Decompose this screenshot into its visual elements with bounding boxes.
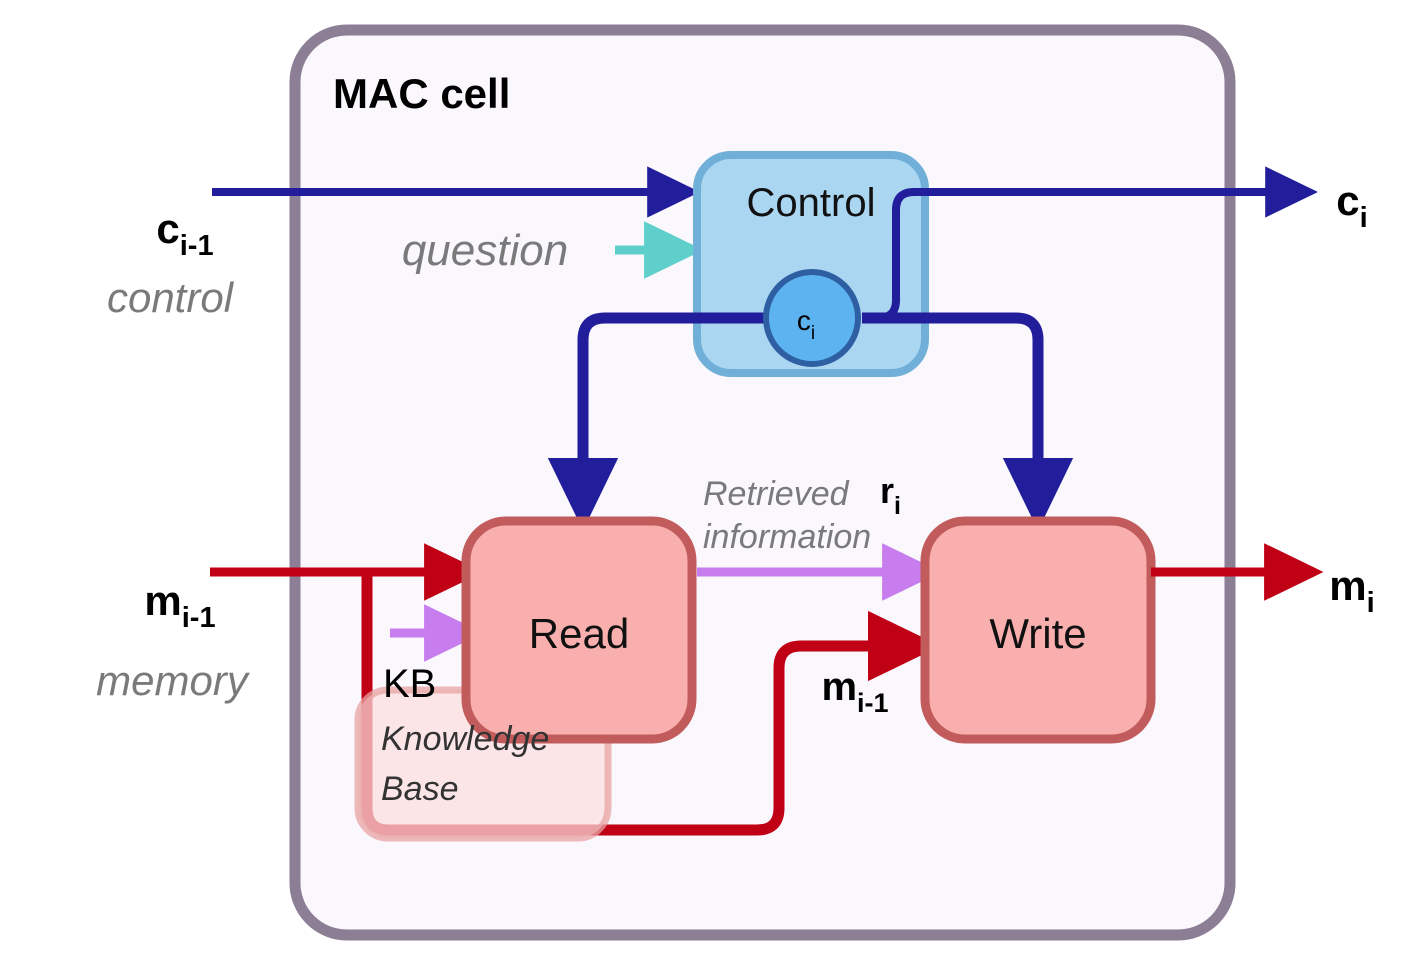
knowledge-base-line1: Knowledge (381, 720, 549, 758)
memory-output-label: mi (1329, 562, 1374, 619)
knowledge-base-abbrev: KB (383, 662, 436, 706)
retrieved-information-label-line1: Retrieved (703, 475, 850, 513)
knowledge-base-line2: Base (381, 770, 459, 808)
diagram-canvas: MAC cell Control ci Read Write ci-1 cont… (0, 0, 1408, 960)
memory-input-subscript: i-1 (182, 602, 216, 634)
control-input-label: ci-1 (156, 205, 213, 262)
control-state-node[interactable] (766, 272, 858, 364)
control-block-label: Control (747, 181, 876, 225)
control-output-subscript: i (1360, 202, 1368, 234)
control-output-label: ci (1336, 177, 1367, 234)
page-title: MAC cell (333, 70, 510, 117)
memory-input-caption: memory (96, 657, 251, 704)
write-block-label: Write (989, 610, 1086, 657)
memory-output-subscript: i (1367, 587, 1375, 619)
retrieved-information-label-line2: information (703, 518, 871, 556)
control-input-caption: control (107, 274, 235, 321)
read-block-label: Read (529, 610, 629, 657)
mac-cell-diagram: MAC cell Control ci Read Write ci-1 cont… (0, 0, 1408, 960)
control-input-subscript: i-1 (180, 230, 214, 262)
control-state-subscript: i (811, 323, 815, 344)
memory-recurrent-subscript: i-1 (857, 688, 889, 718)
retrieved-symbol-subscript: i (894, 492, 901, 520)
question-label: question (402, 226, 568, 275)
memory-input-label: mi-1 (144, 577, 215, 634)
